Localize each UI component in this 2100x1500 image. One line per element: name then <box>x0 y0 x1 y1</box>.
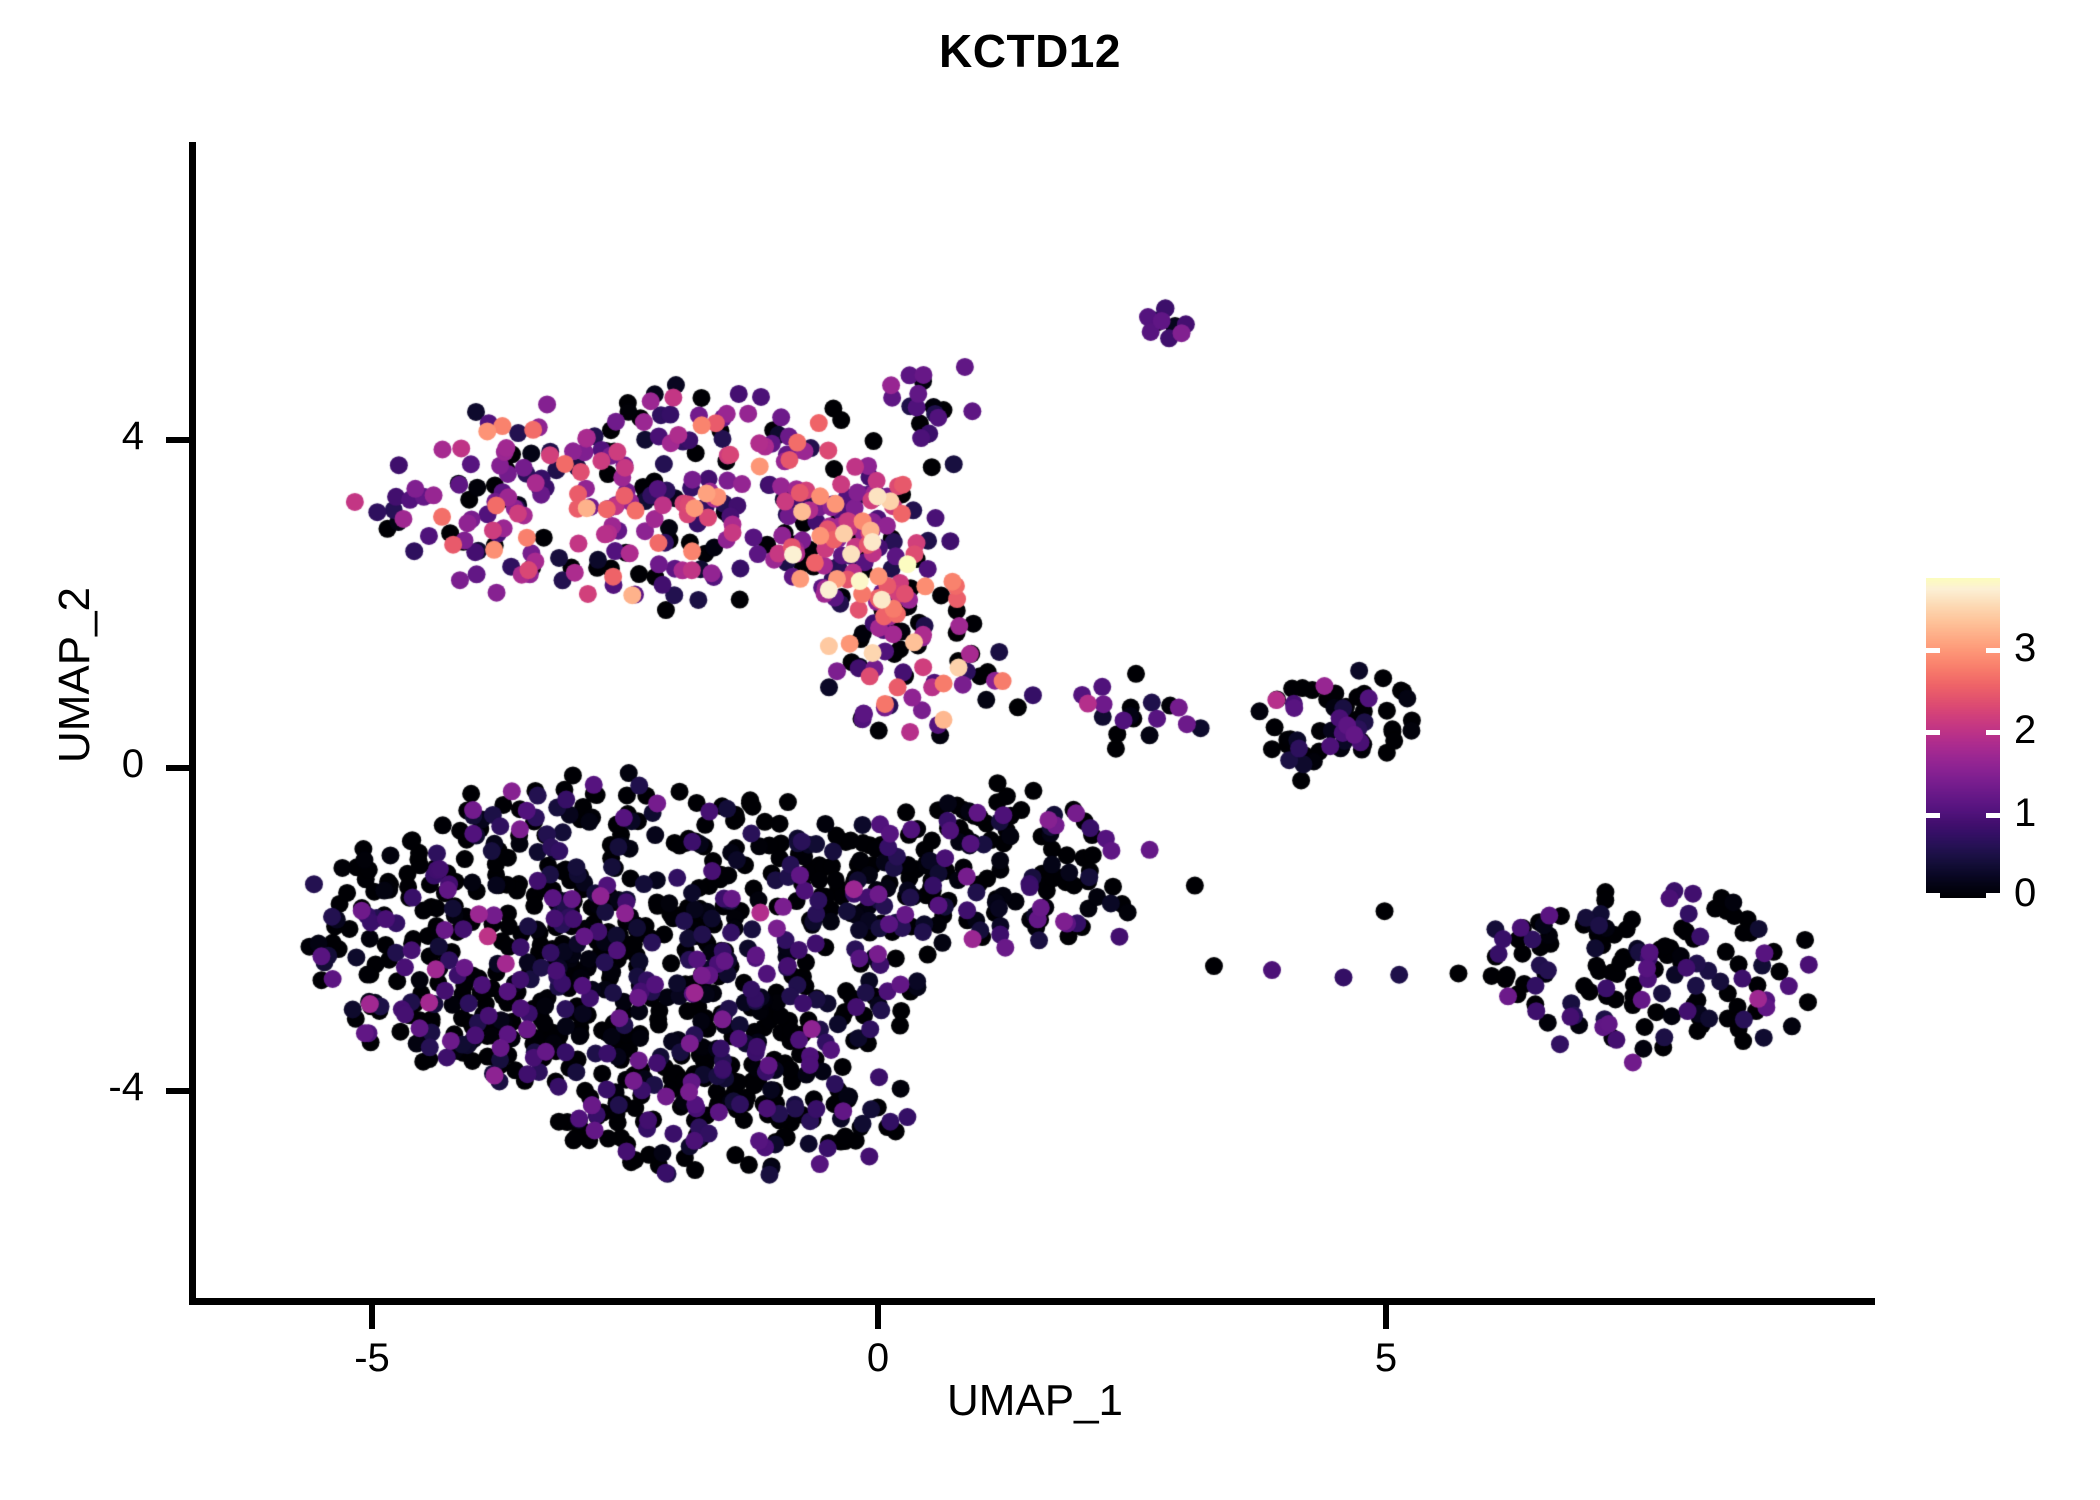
colorbar-tick-0-right <box>1986 893 2000 898</box>
colorbar-tick-2-right <box>1986 730 2000 735</box>
colorbar-label-1: 1 <box>2014 793 2084 833</box>
colorbar-tick-1-right <box>1986 813 2000 818</box>
colorbar-gradient <box>1926 578 2000 898</box>
x-axis-label: UMAP_1 <box>195 1376 1875 1426</box>
y-tick-mark-1 <box>166 765 190 771</box>
scatter-plot-panel[interactable] <box>195 142 1875 1302</box>
colorbar-tick-0-left <box>1926 893 1940 898</box>
y-axis-label: UMAP_2 <box>50 545 100 805</box>
x-tick-mark-0 <box>369 1305 375 1329</box>
x-tick-mark-2 <box>1383 1305 1389 1329</box>
colorbar-label-3: 3 <box>2014 628 2084 668</box>
y-tick-mark-2 <box>166 1088 190 1094</box>
y-tick-label-2: -4 <box>24 1067 144 1107</box>
colorbar-tick-3-right <box>1986 648 2000 653</box>
x-axis-line <box>189 1298 1875 1305</box>
x-tick-mark-1 <box>875 1305 881 1329</box>
y-tick-label-0: 4 <box>24 416 144 456</box>
x-tick-label-0: -5 <box>292 1338 452 1378</box>
y-axis-line <box>189 142 196 1305</box>
y-tick-mark-0 <box>166 437 190 443</box>
page-title: KCTD12 <box>0 24 2080 78</box>
scatter-points-layer[interactable] <box>195 142 1875 1302</box>
x-tick-label-1: 0 <box>798 1338 958 1378</box>
figure-root: KCTD12 4 0 -4 -5 0 5 UMAP_1 UMAP_2 3 2 1… <box>0 0 2100 1500</box>
colorbar-tick-2-left <box>1926 730 1940 735</box>
x-tick-label-2: 5 <box>1306 1338 1466 1378</box>
colorbar-legend[interactable]: 3 2 1 0 <box>1926 578 2076 908</box>
colorbar-tick-3-left <box>1926 648 1940 653</box>
colorbar-label-0: 0 <box>2014 873 2084 913</box>
colorbar-tick-1-left <box>1926 813 1940 818</box>
colorbar-label-2: 2 <box>2014 710 2084 750</box>
